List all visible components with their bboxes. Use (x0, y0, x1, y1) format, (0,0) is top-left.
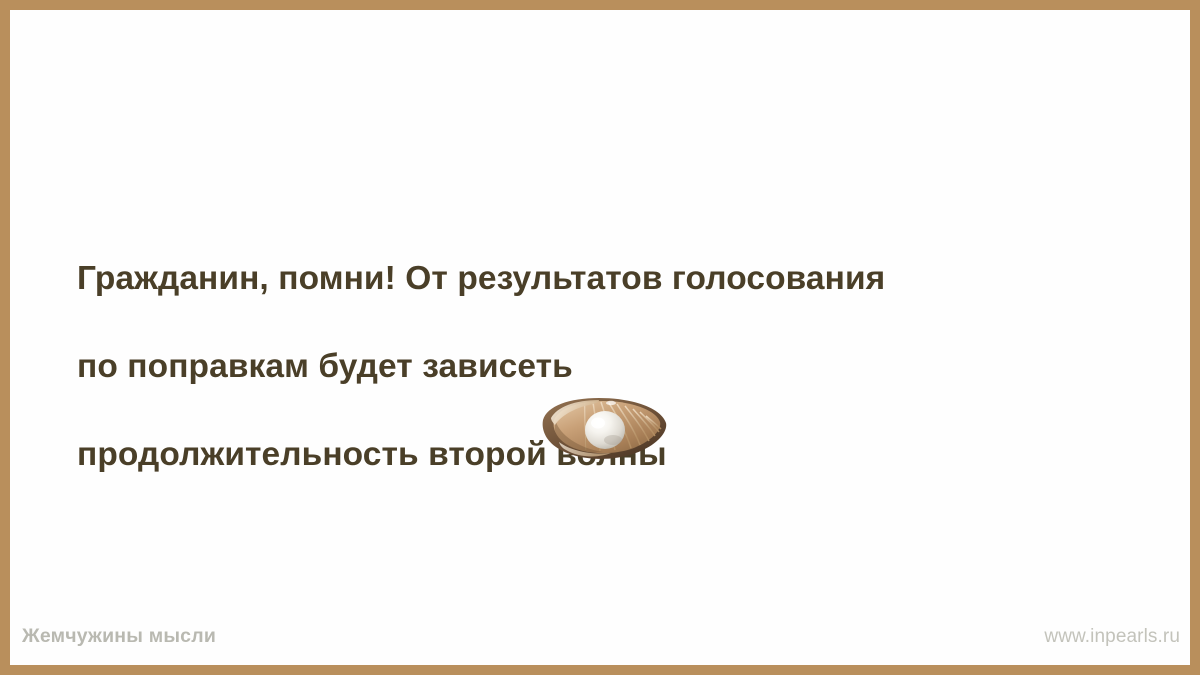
site-brand-label: Жемчужины мысли (22, 625, 216, 648)
quote-line-2: по поправкам будет зависеть (77, 345, 1147, 389)
site-url-label[interactable]: www.inpearls.ru (1044, 626, 1180, 648)
quote-text: Гражданин, помни! От результатов голосов… (77, 213, 1147, 521)
pearl-in-shell-icon (537, 392, 671, 462)
quote-card: Гражданин, помни! От результатов голосов… (0, 0, 1200, 675)
card-inner-surface: Гражданин, помни! От результатов голосов… (10, 10, 1190, 665)
quote-line-1: Гражданин, помни! От результатов голосов… (77, 257, 1147, 301)
